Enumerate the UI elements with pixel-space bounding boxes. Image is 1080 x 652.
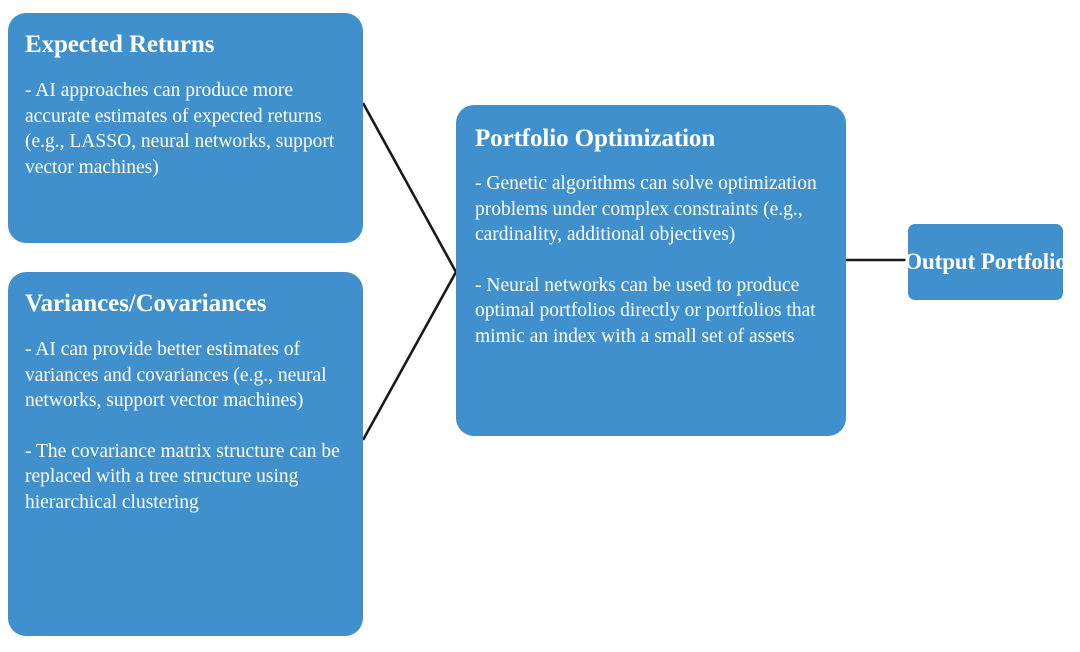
- node-expected-returns-title: Expected Returns: [25, 30, 347, 60]
- node-portfolio-optimization-bullet-2: - Neural networks can be used to produce…: [475, 273, 829, 350]
- node-output-portfolio[interactable]: Output Portfolio: [908, 224, 1063, 300]
- node-variances-covariances[interactable]: Variances/Covariances - AI can provide b…: [8, 272, 363, 636]
- connector-expected-returns-to-optimization: [363, 103, 456, 272]
- node-output-portfolio-title: Output Portfolio: [904, 248, 1067, 276]
- node-expected-returns-bullet-1: - AI approaches can produce more accurat…: [25, 78, 347, 180]
- node-portfolio-optimization[interactable]: Portfolio Optimization - Genetic algorit…: [456, 105, 846, 436]
- node-variances-covariances-bullet-1: - AI can provide better estimates of var…: [25, 337, 347, 414]
- node-variances-covariances-title: Variances/Covariances: [25, 289, 347, 319]
- node-portfolio-optimization-title: Portfolio Optimization: [475, 124, 829, 154]
- node-expected-returns[interactable]: Expected Returns - AI approaches can pro…: [8, 13, 363, 243]
- node-variances-covariances-bullet-2: - The covariance matrix structure can be…: [25, 439, 347, 516]
- connector-variances-to-optimization: [363, 272, 456, 440]
- diagram-canvas: Expected Returns - AI approaches can pro…: [0, 0, 1080, 652]
- node-portfolio-optimization-bullet-1: - Genetic algorithms can solve optimizat…: [475, 171, 829, 248]
